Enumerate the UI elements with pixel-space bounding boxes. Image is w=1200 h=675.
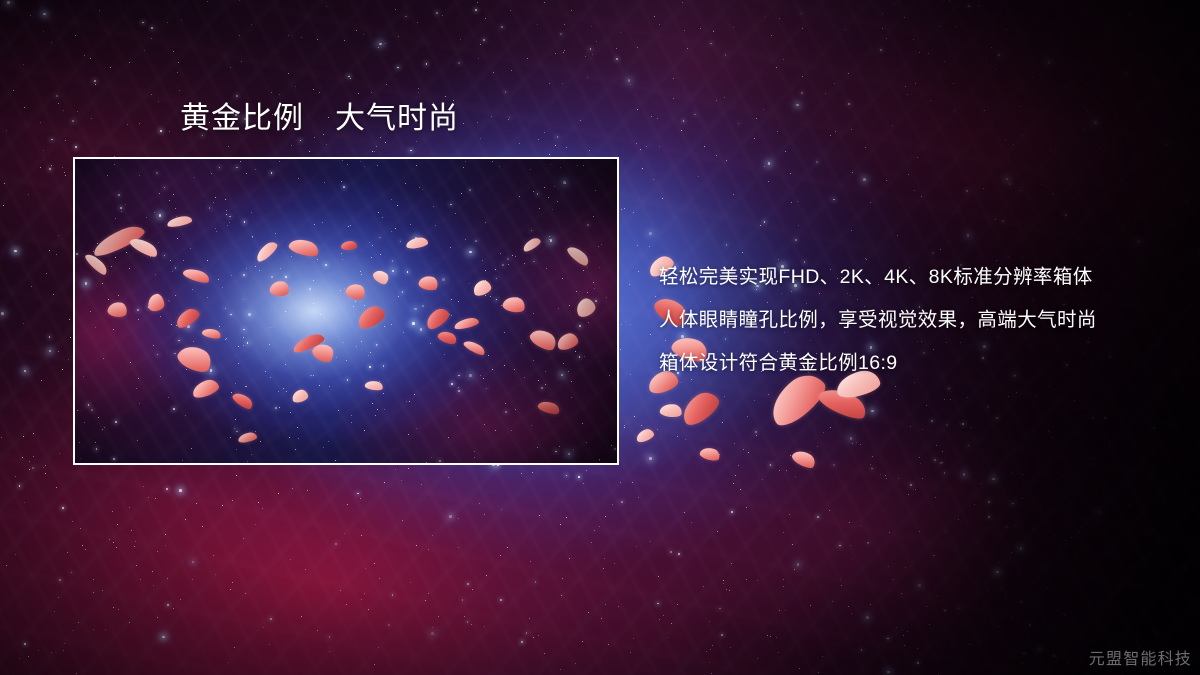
description-text-block: 轻松完美实现FHD、2K、4K、8K标准分辨率箱体 人体眼睛瞳孔比例，享受视觉效… <box>659 256 1179 385</box>
panel-vignette <box>75 159 617 463</box>
panel-image-content <box>75 159 617 463</box>
presentation-slide: 黄金比例 大气时尚 轻松完美实现FHD、2K、4K、8K标准分辨率箱体 人体眼睛… <box>0 0 1200 675</box>
watermark-label: 元盟智能科技 <box>1089 645 1192 669</box>
page-title: 黄金比例 大气时尚 <box>180 100 459 138</box>
description-line-3: 箱体设计符合黄金比例16:9 <box>659 342 1179 385</box>
description-line-2: 人体眼睛瞳孔比例，享受视觉效果，高端大气时尚 <box>659 299 1179 342</box>
display-preview-panel[interactable] <box>73 157 619 465</box>
description-line-1: 轻松完美实现FHD、2K、4K、8K标准分辨率箱体 <box>659 256 1179 299</box>
